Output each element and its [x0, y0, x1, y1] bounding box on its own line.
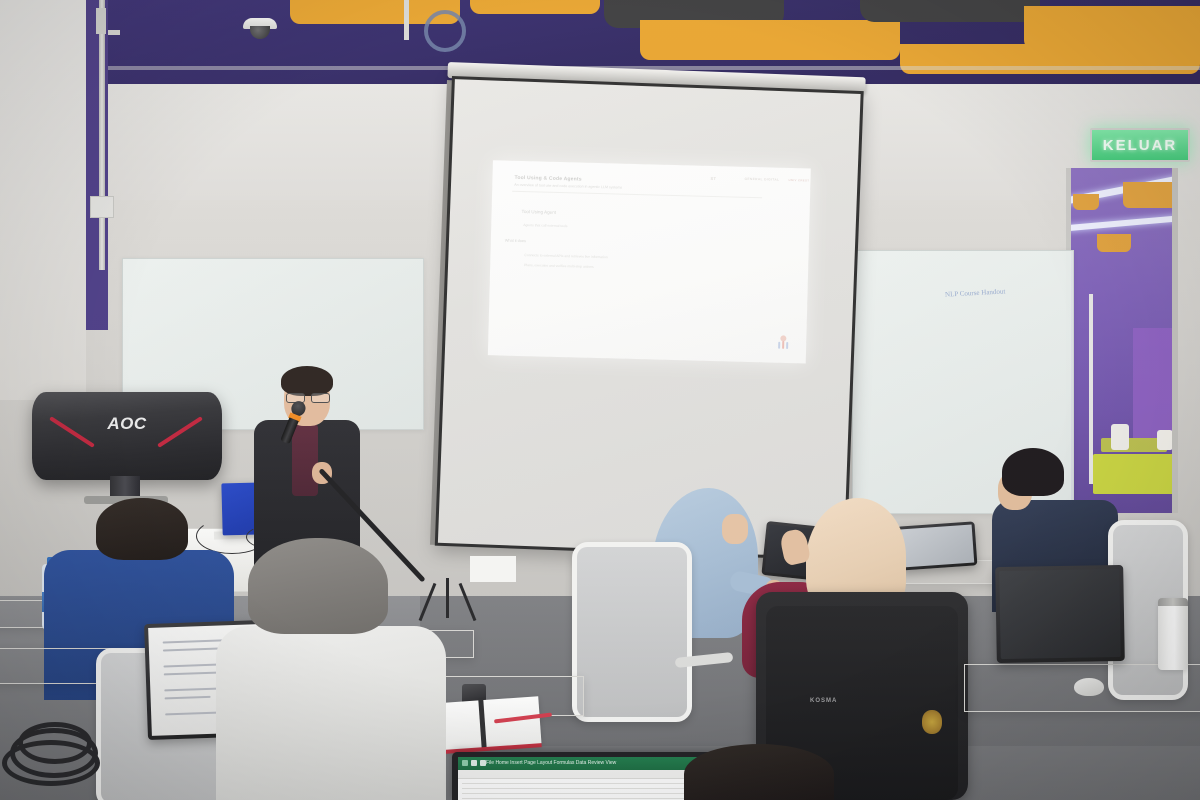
ceiling-baffle-orange	[640, 20, 900, 60]
jacket-crest-icon	[922, 710, 942, 734]
coiled-cables	[0, 722, 110, 784]
slide-bullet: Connects to external APIs and retrieves …	[524, 253, 607, 259]
exit-sign-label: KELUAR	[1103, 137, 1178, 154]
wall-junction-box	[90, 196, 114, 218]
ceiling-baffle-dark	[860, 0, 1040, 22]
whiteboard-note: NLP Course Handout	[945, 287, 1006, 298]
attendee-hair	[96, 498, 188, 560]
wall-conduit	[99, 0, 105, 270]
attendee-hair	[248, 538, 388, 634]
projector-screen: Tool Using & Code Agents An overview of …	[435, 76, 864, 561]
lab-equipment	[1157, 430, 1173, 450]
security-camera-icon	[243, 18, 277, 40]
slide-logo-st: ST	[710, 176, 716, 181]
ceiling-baffle-orange	[470, 0, 600, 14]
spreadsheet-ribbon-text: File Home Insert Page Layout Formulas Da…	[486, 760, 616, 766]
slide-logo-partner: GENERAL DIGITAL	[744, 177, 779, 182]
aoc-monitor: AOC	[32, 392, 222, 502]
lab-shelf	[1133, 328, 1173, 438]
monitor-brand-label: AOC	[107, 414, 146, 434]
computer-mouse[interactable]	[1074, 678, 1104, 696]
slide-title: Tool Using & Code Agents	[514, 175, 581, 183]
projected-slide: Tool Using & Code Agents An overview of …	[488, 160, 811, 363]
slide-divider	[512, 191, 762, 199]
lab-baffle	[1097, 234, 1131, 252]
slide-subtitle: An overview of tool use and code executi…	[514, 183, 622, 190]
chair-center[interactable]	[572, 542, 692, 722]
organisation-logo-icon	[776, 335, 790, 351]
glasses-icon	[286, 393, 328, 401]
coiled-wire-icon	[424, 10, 466, 52]
presenter-hair	[281, 366, 333, 396]
attendee-foreground-head	[684, 744, 834, 800]
slide-bullet: Plans, executes and verifies multi-step …	[524, 263, 594, 269]
slide-section-note: Agents that call external tools	[523, 223, 567, 228]
attendee-hair	[1002, 448, 1064, 496]
exit-sign: KELUAR	[1090, 128, 1190, 162]
lab-baffle	[1073, 194, 1099, 210]
presenter-shirt	[292, 424, 318, 496]
attendee-torso	[216, 626, 446, 800]
attendee-grey-hair-man	[216, 538, 446, 800]
jacket-tag: KOSMA	[810, 698, 837, 704]
ceiling-bracket	[96, 8, 106, 34]
photo-scene: KELUAR NLP Course Handout Tool Using & C…	[0, 0, 1200, 800]
tumbler-right	[1158, 598, 1188, 670]
wall-left-column	[0, 0, 86, 400]
led-strip	[1067, 215, 1178, 231]
attendee-face	[722, 514, 748, 544]
desk-unit	[470, 556, 516, 582]
monitor-stand	[110, 476, 140, 498]
lab-equipment	[1111, 424, 1129, 450]
slide-logo-crest: UNIV CREST	[788, 178, 809, 183]
ceiling-rod	[404, 0, 409, 40]
slide-bullet-heading: What it does	[505, 239, 526, 244]
laptop-right[interactable]	[995, 565, 1125, 663]
slide-section-heading: Tool Using Agent	[522, 209, 557, 215]
lab-baffle	[1123, 182, 1178, 208]
